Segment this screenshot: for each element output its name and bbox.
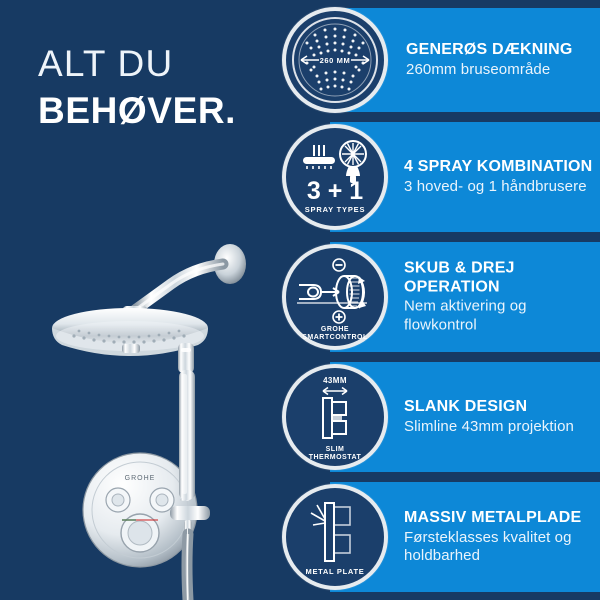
feature-subtitle-4: Slimline 43mm projektion (404, 418, 600, 437)
feature-title-4: SLANK DESIGN (404, 398, 600, 417)
feature-title-2: 4 SPRAY KOMBINATION (404, 158, 600, 177)
push-turn-smartcontrol-icon: GROHE SMARTCONTROL (282, 244, 388, 350)
smartcontrol-caption-line2: SMARTCONTROL (302, 334, 368, 341)
shower-head-diameter-icon: 260 MM (282, 7, 388, 113)
feature-subtitle-2: 3 hoved- og 1 håndbrusere (404, 178, 600, 197)
head-shower-glyph (303, 145, 335, 169)
feature-text-4: SLANK DESIGN Slimline 43mm projektion (404, 398, 600, 436)
feature-item-slim-design[interactable]: 43MM SLIM THERMOSTAT SLANK DESIGN Slimli… (282, 362, 600, 472)
feature-item-metal-plate[interactable]: METAL PLATE MASSIV METALPLADE Førsteklas… (282, 482, 600, 592)
impact-spark-glyph (311, 505, 325, 525)
poster-canvas: ALT DU BEHØVER. (0, 0, 600, 600)
slim-measure-label: 43MM (323, 376, 347, 385)
feature-subtitle-5: Førsteklasses kvalitet og holdbarhed (404, 528, 600, 565)
feature-title-1: GENERØS DÆKNING (406, 41, 600, 60)
metal-plate-caption: METAL PLATE (306, 567, 365, 576)
metal-plate-profile (325, 503, 334, 561)
feature-subtitle-3: Nem aktivering og flowkontrol (404, 298, 600, 335)
slim-thermostat-icon: 43MM SLIM THERMOSTAT (282, 364, 388, 470)
feature-item-push-turn[interactable]: GROHE SMARTCONTROL SKUB & DREJ OPERATION… (282, 242, 600, 352)
feature-text-2: 4 SPRAY KOMBINATION 3 hoved- og 1 håndbr… (404, 158, 600, 196)
feature-item-generous-coverage[interactable]: 260 MM GENERØS DÆKNING 260mm bruseområde (282, 8, 600, 112)
feature-text-1: GENERØS DÆKNING 260mm bruseområde (406, 41, 600, 79)
spray-types-icon: 3 + 1 SPRAY TYPES (282, 124, 388, 230)
smartcontrol-caption-line1: GROHE (321, 326, 349, 333)
slim-caption-line1: SLIM (326, 446, 345, 453)
feature-title-5: MASSIV METALPLADE (404, 509, 600, 528)
feature-text-5: MASSIV METALPLADE Førsteklasses kvalitet… (404, 509, 600, 566)
feature-item-spray-combination[interactable]: 3 + 1 SPRAY TYPES 4 SPRAY KOMBINATION 3 … (282, 122, 600, 232)
hand-glyph (299, 285, 321, 299)
diameter-measure-label: 260 MM (320, 56, 351, 65)
feature-text-3: SKUB & DREJ OPERATION Nem aktivering og … (404, 260, 600, 335)
feature-title-3: SKUB & DREJ OPERATION (404, 260, 600, 297)
spray-count-label: 3 + 1 (307, 177, 363, 205)
slim-caption-line2: THERMOSTAT (309, 454, 362, 461)
plate-profile (323, 398, 332, 438)
feature-subtitle-1: 260mm bruseområde (406, 61, 600, 80)
spray-types-caption: SPRAY TYPES (305, 205, 366, 214)
metal-plate-icon: METAL PLATE (282, 484, 388, 590)
